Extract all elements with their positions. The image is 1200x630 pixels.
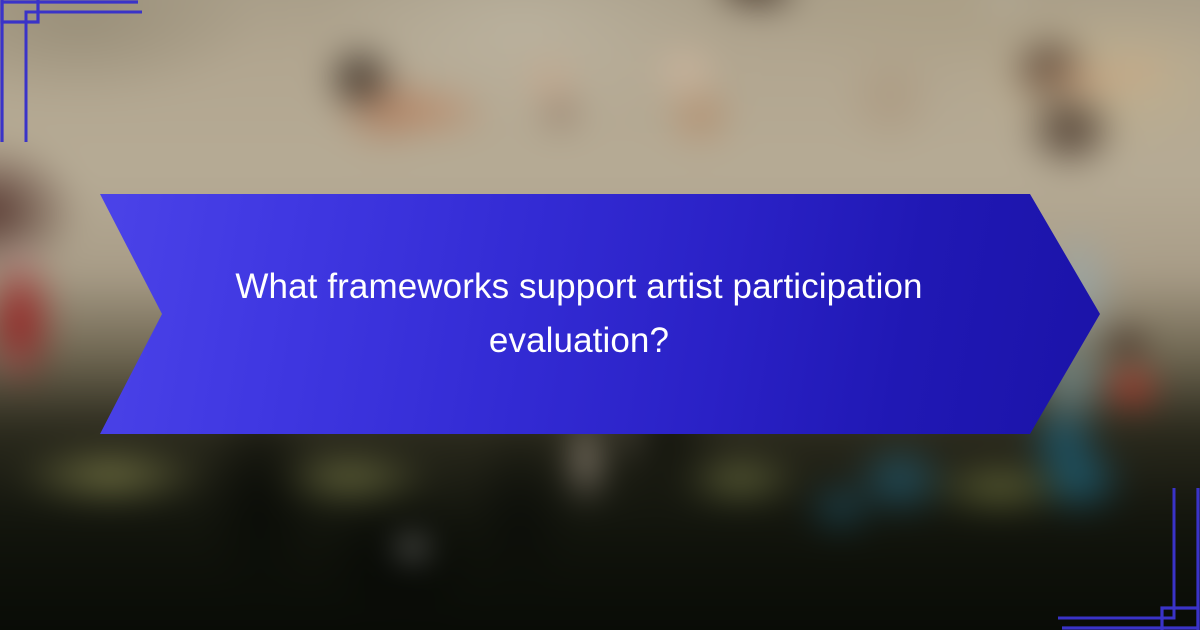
- chevron-title-banner: [100, 194, 1100, 434]
- share-card: What frameworks support artist participa…: [0, 0, 1200, 630]
